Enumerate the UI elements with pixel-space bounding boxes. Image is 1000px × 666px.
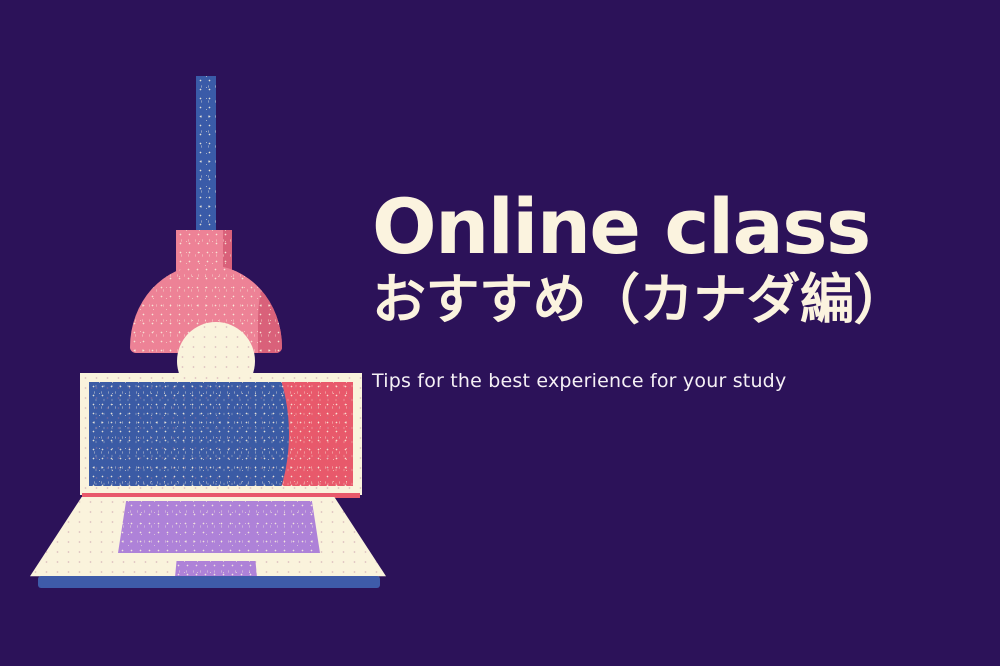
laptop-screen [89, 382, 353, 486]
banner-text-block: Online class おすすめ（カナダ編） Tips for the bes… [372, 186, 972, 394]
laptop-foot [38, 576, 380, 588]
tagline: Tips for the best experience for your st… [372, 332, 972, 394]
pendant-lamp-illustration [130, 60, 290, 350]
page-title: Online class [372, 186, 972, 268]
laptop-lid [80, 373, 362, 495]
screen-blue-arc [89, 382, 289, 486]
banner-canvas: Online class おすすめ（カナダ編） Tips for the bes… [0, 0, 1000, 666]
page-subtitle: おすすめ（カナダ編） [372, 268, 972, 332]
lamp-dome-shadow [258, 269, 282, 353]
laptop-keyboard-grain [118, 501, 320, 553]
laptop-illustration [30, 365, 390, 605]
laptop-keyboard [118, 501, 320, 553]
